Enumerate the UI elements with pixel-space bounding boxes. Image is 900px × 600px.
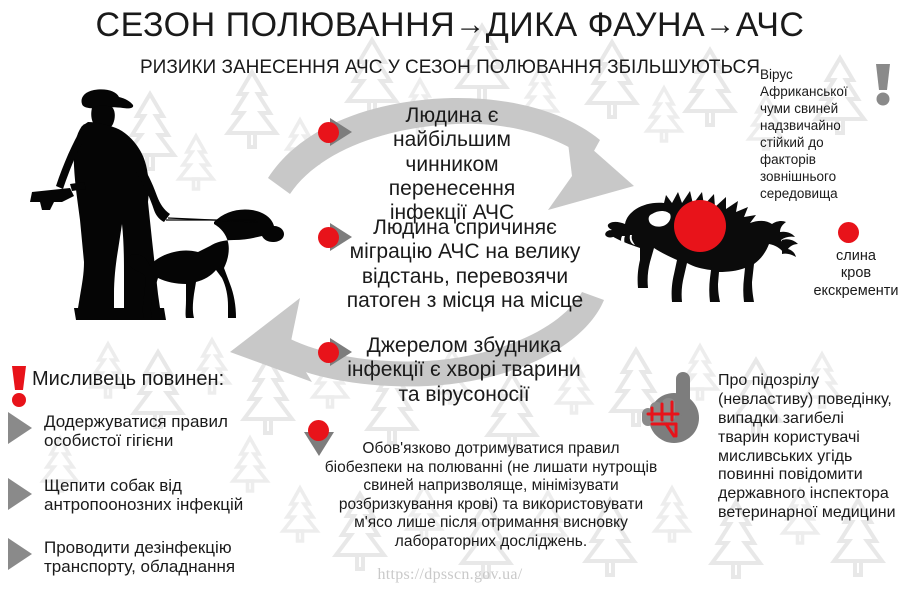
source-url: https://dpsscn.gov.ua/: [0, 566, 900, 584]
gray-triangle-arrow-icon: [8, 478, 32, 510]
page-title: СЕЗОН ПОЛЮВАННЯ→ДИКА ФАУНА→АЧС: [0, 6, 900, 45]
exclamation-mark-icon: [872, 62, 894, 106]
title-part-season: СЕЗОН ПОЛЮВАННЯ: [96, 6, 456, 44]
title-arrow-icon-1: →: [455, 8, 486, 41]
center-block-2: Людина спричиняє міграцію АЧС на велику …: [340, 216, 590, 313]
red-dot-icon: [838, 222, 859, 243]
hunter-must-title: Мисливець повинен:: [32, 368, 224, 391]
virus-note-text: Вірус Африканської чуми свиней надзвичай…: [760, 66, 878, 202]
red-dot-icon: [318, 122, 339, 143]
infographic-canvas: СЕЗОН ПОЛЮВАННЯ→ДИКА ФАУНА→АЧС РИЗИКИ ЗА…: [0, 0, 900, 600]
hunter-must-item-2: Щепити собак від антропоонозних інфекцій: [44, 476, 294, 515]
center-block-4-biosecurity: Обов'язково дотримуватися правил біобезп…: [324, 440, 658, 552]
hunter-dog-silhouette: [18, 62, 308, 352]
exclamation-mark-icon: [8, 364, 30, 408]
fluid-item-saliva: слина: [812, 248, 900, 265]
gray-triangle-arrow-icon: [8, 412, 32, 444]
pointing-hand-icon: [632, 362, 714, 448]
red-dot-icon: [308, 420, 329, 441]
title-arrow-icon-2: →: [705, 8, 736, 41]
report-note-text: Про підозрілу (невластиву) поведінку, ви…: [718, 372, 898, 523]
title-part-asf: АЧС: [736, 6, 805, 44]
fluids-list: слина кров екскременти: [812, 248, 900, 300]
hunter-must-item-1: Додержуватися правил особистої гігієни: [44, 412, 294, 451]
infection-marker-red-circle: [674, 200, 726, 252]
fluid-item-blood: кров: [812, 265, 900, 282]
red-dot-icon: [318, 342, 339, 363]
center-block-1: Людина є найбільшим чинником перенесення…: [352, 104, 552, 226]
title-part-wildlife: ДИКА ФАУНА: [486, 6, 706, 44]
fluid-item-excrement: екскременти: [812, 283, 900, 300]
gray-triangle-arrow-icon: [8, 538, 32, 570]
center-block-3: Джерелом збудника інфекції є хворі твари…: [346, 334, 582, 407]
red-dot-icon: [318, 227, 339, 248]
